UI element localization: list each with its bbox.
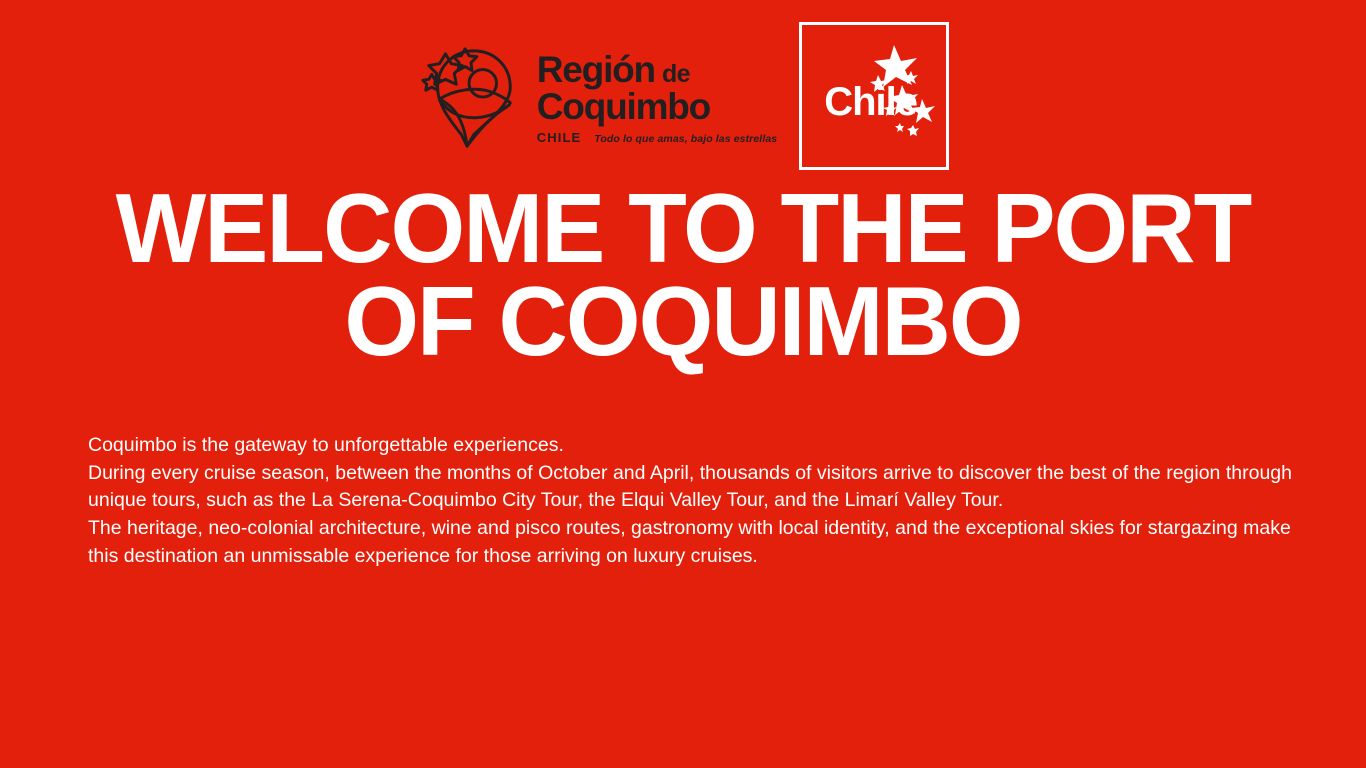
wordmark-region: Región [537,53,655,87]
headline-line-1: WELCOME TO THE PORT [43,182,1323,275]
page-title: WELCOME TO THE PORT OF COQUIMBO [14,182,1353,368]
tagline-slogan: Todo lo que amas, bajo las estrellas [594,133,777,145]
region-de-coquimbo-wordmark: Región de Coquimbo CHILE Todo lo que ama… [537,53,777,144]
region-de-coquimbo-pin-icon [417,44,525,154]
wordmark-coquimbo: Coquimbo [537,88,777,125]
tagline-country: CHILE [537,130,582,145]
paragraph-2: During every cruise season, between the … [88,460,1292,515]
chile-country-brand-logo: Chile [799,22,949,170]
chile-stars-icon [864,41,936,141]
paragraph-1: Coquimbo is the gateway to unforgettable… [88,432,1292,460]
region-de-coquimbo-logo: Región de Coquimbo CHILE Todo lo que ama… [417,22,777,154]
paragraph-3: The heritage, neo-colonial architecture,… [88,515,1292,570]
wordmark-de: de [662,63,690,86]
headline-line-2: OF COQUIMBO [43,275,1323,368]
logo-tagline: CHILE Todo lo que amas, bajo las estrell… [537,130,777,145]
logo-bar: Región de Coquimbo CHILE Todo lo que ama… [0,22,1366,182]
intro-paragraphs: Coquimbo is the gateway to unforgettable… [88,432,1292,570]
